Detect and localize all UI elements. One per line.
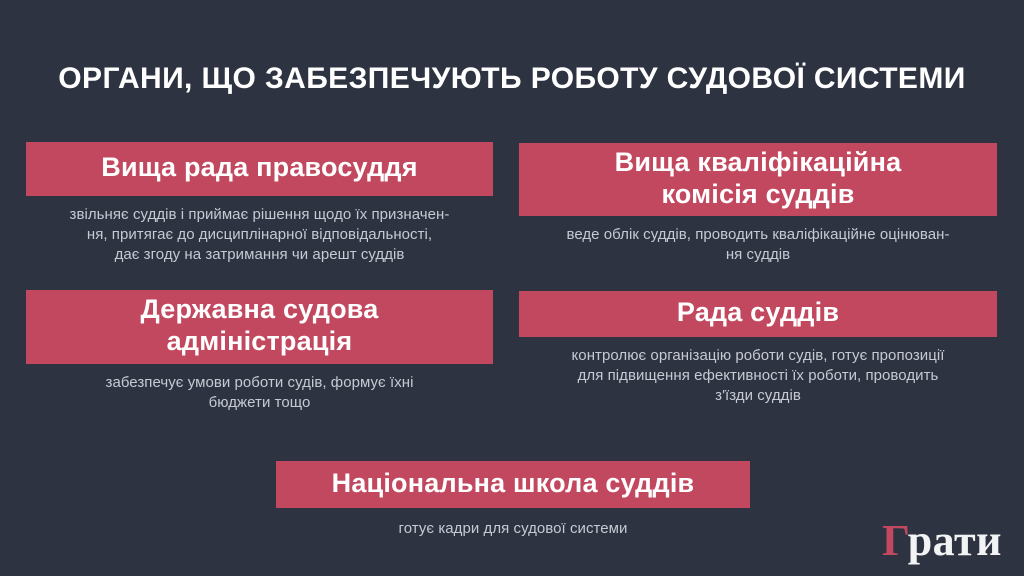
- card-description-dsa: забезпечує умови роботи судів, формує їх…: [26, 364, 493, 413]
- card-derzhavna-sudova-administraciya: Державна судоваадміністрація забезпечує …: [26, 290, 493, 413]
- card-nacionalna-shkola-suddiv: Національна школа суддів готує кадри для…: [276, 461, 750, 539]
- card-heading-rs: Рада суддів: [519, 291, 997, 337]
- card-heading-vrp: Вища рада правосуддя: [26, 142, 493, 196]
- card-heading-nsh: Національна школа суддів: [276, 461, 750, 508]
- logo-first-letter: Г: [882, 516, 908, 565]
- card-heading-dsa: Державна судоваадміністрація: [26, 290, 493, 364]
- infographic-canvas: ОРГАНИ, ЩО ЗАБЕЗПЕЧУЮТЬ РОБОТУ СУДОВОЇ С…: [0, 0, 1024, 576]
- publisher-logo-hraty: Грати: [882, 518, 1002, 564]
- card-heading-vkks: Вища кваліфікаційнакомісія суддів: [519, 143, 997, 216]
- card-description-vkks: веде облік суддів, проводить кваліфікаці…: [519, 216, 997, 265]
- page-title: ОРГАНИ, ЩО ЗАБЕЗПЕЧУЮТЬ РОБОТУ СУДОВОЇ С…: [0, 60, 1024, 98]
- card-vyshcha-rada-pravosuddya: Вища рада правосуддя звільняє суддів і п…: [26, 142, 493, 265]
- card-description-nsh: готує кадри для судової системи: [276, 508, 750, 539]
- logo-remaining-letters: рати: [908, 516, 1002, 565]
- card-description-rs: контролює організацію роботи судів, готу…: [519, 337, 997, 406]
- card-rada-suddiv: Рада суддів контролює організацію роботи…: [519, 291, 997, 406]
- card-description-vrp: звільняє суддів і приймає рішення щодо ї…: [26, 196, 493, 265]
- card-vyshcha-kvalifikaciyna-komisiya-suddiv: Вища кваліфікаційнакомісія суддів веде о…: [519, 143, 997, 265]
